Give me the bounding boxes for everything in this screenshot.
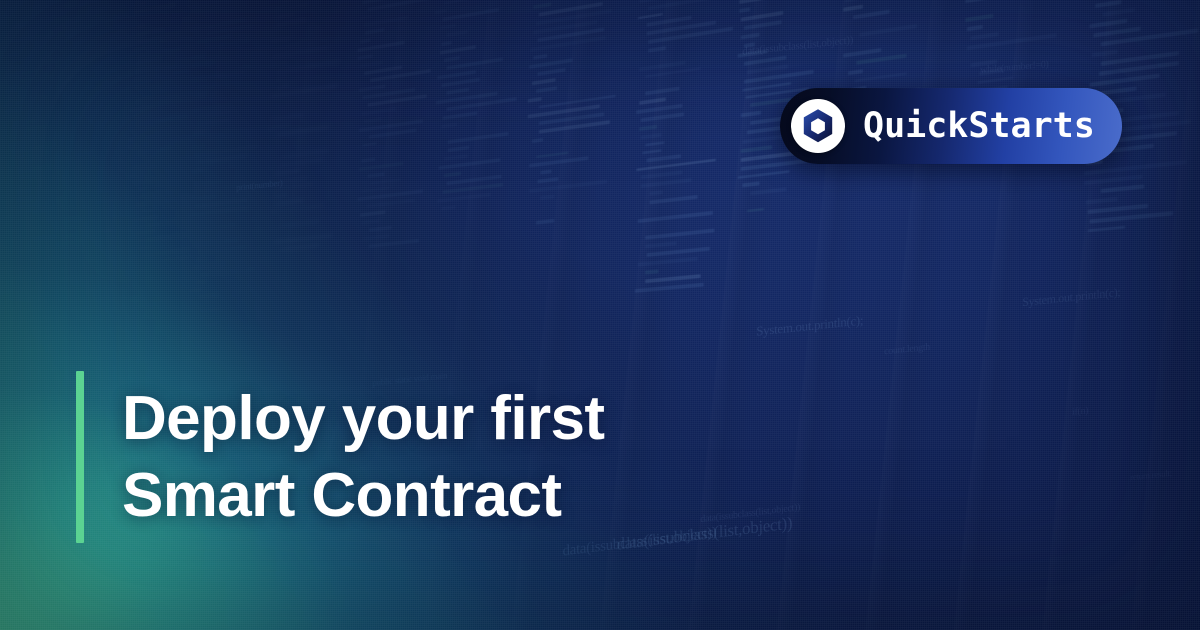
chainlink-logo-circle: [791, 99, 845, 153]
headline-block: Deploy your first Smart Contract: [76, 371, 604, 543]
chainlink-hexagon-icon: [798, 106, 838, 146]
quickstarts-badge[interactable]: QuickStarts: [780, 88, 1122, 164]
page-title-line-1: Deploy your first: [122, 380, 604, 457]
page-title: Deploy your first Smart Contract: [122, 371, 604, 543]
quickstarts-badge-label: QuickStarts: [863, 109, 1095, 144]
page-title-line-2: Smart Contract: [122, 457, 604, 534]
og-card-banner: data(issubclass(list,object))while(numbe…: [0, 0, 1200, 630]
accent-bar: [76, 371, 84, 543]
